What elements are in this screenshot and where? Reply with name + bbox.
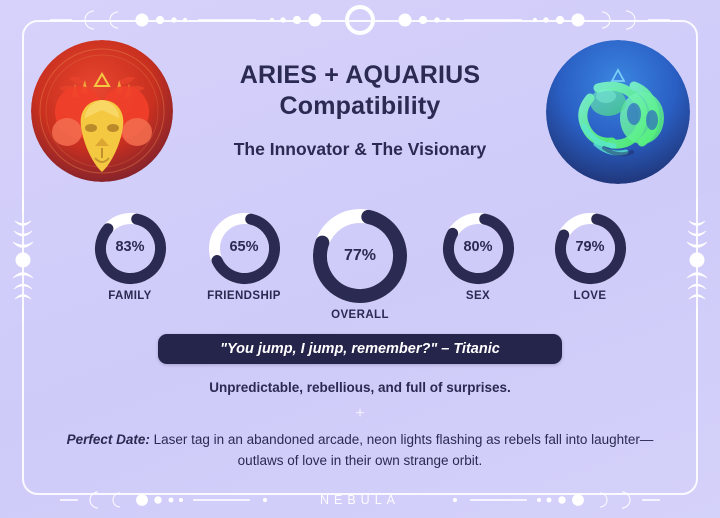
donut-category-label: FAMILY [108,290,152,302]
aries-emblem-svg [31,40,173,182]
bottom-border-ornament: NEBULA [0,482,720,518]
perfect-date-label: Perfect Date: [67,432,150,447]
top-border-ornament [0,0,720,40]
donut-gauge-overall: 77%OVERALL [311,207,409,305]
donut-gauge-friendship: 65%FRIENDSHIP [207,211,282,286]
donut-gauge-love: 79%LOVE [553,211,628,286]
tagline-text: Unpredictable, rebellious, and full of s… [60,380,660,395]
aquarius-emblem-svg [546,40,690,184]
donut-category-label: OVERALL [331,309,389,321]
left-ornament-svg [8,199,38,321]
perfect-date-text: Laser tag in an abandoned arcade, neon l… [150,432,654,468]
movie-quote-text: "You jump, I jump, remember?" – Titanic [220,341,500,357]
brand-wordmark: NEBULA [320,493,400,507]
sparkle-divider-icon: + [0,406,720,422]
aries-emblem [31,40,173,182]
perfect-date-block: Perfect Date: Laser tag in an abandoned … [60,430,660,472]
donut-value-label: 80% [441,239,516,255]
right-ornament-svg [682,199,712,321]
top-ornament-svg [50,3,670,37]
donut-value-label: 65% [207,239,282,255]
infographic-card: NEBULA [0,0,720,518]
donut-value-label: 77% [311,247,409,265]
bottom-ornament-right-svg [400,485,660,515]
left-side-ornament [8,199,38,321]
title-line-1: ARIES + AQUARIUS [180,60,540,91]
donut-category-label: LOVE [574,290,607,302]
compatibility-donut-chart: 83%FAMILY65%FRIENDSHIP77%OVERALL80%SEX79… [88,196,632,322]
aquarius-emblem [546,40,690,184]
right-side-ornament [682,199,712,321]
donut-gauge-sex: 80%SEX [441,211,516,286]
donut-value-label: 83% [93,239,168,255]
donut-category-label: SEX [466,290,490,302]
donut-category-label: FRIENDSHIP [207,290,281,302]
page-subtitle: The Innovator & The Visionary [180,139,540,160]
title-line-2: Compatibility [180,91,540,122]
movie-quote-banner: "You jump, I jump, remember?" – Titanic [158,334,562,364]
donut-value-label: 79% [553,239,628,255]
page-title: ARIES + AQUARIUS Compatibility [180,60,540,121]
donut-gauge-family: 83%FAMILY [93,211,168,286]
header-block: ARIES + AQUARIUS Compatibility The Innov… [180,60,540,160]
bottom-ornament-left-svg [60,485,320,515]
